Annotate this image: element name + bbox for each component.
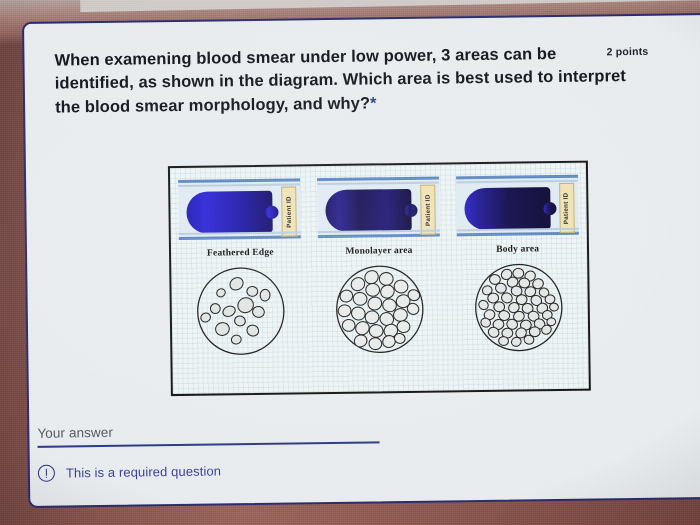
blood-cell [210, 303, 221, 314]
blood-cell [365, 283, 380, 297]
panel-caption-body-area: Body area [496, 244, 539, 255]
microscope-slide: Patient ID [317, 177, 440, 239]
photographed-screen: When examening blood smear under low pow… [0, 0, 700, 525]
blood-cell [214, 321, 231, 337]
blood-cell [342, 320, 355, 332]
blood-smear-body-area [464, 187, 551, 230]
required-question-message: This is a required question [66, 463, 221, 480]
patient-id-label: Patient ID [282, 186, 298, 236]
microscope-field-monolayer-area [330, 263, 429, 356]
answer-zone: Your answer This is a required question [37, 421, 398, 482]
required-asterisk: * [370, 94, 377, 112]
blood-cell [352, 333, 368, 349]
blood-cell [352, 291, 368, 307]
diagram-panel-feathered-edge: Patient ID Feathered Edge [170, 166, 312, 394]
smear-bump [266, 205, 279, 218]
required-question-notice: This is a required question [38, 460, 398, 482]
blood-cell [222, 304, 238, 318]
microscope-slide: Patient ID [178, 178, 301, 240]
blood-cell [337, 304, 352, 318]
blood-cell [378, 283, 396, 301]
patient-id-label: Patient ID [559, 183, 575, 233]
smear-bump [543, 202, 556, 215]
blood-cell [260, 289, 271, 302]
blood-cell [231, 334, 242, 345]
blood-cell [216, 287, 228, 298]
blood-cell [349, 305, 367, 322]
blood-cell [228, 275, 246, 293]
question-text: When examening blood smear under low pow… [54, 42, 635, 120]
patient-id-text: Patient ID [286, 196, 293, 228]
panel-caption-feathered-edge: Feathered Edge [207, 248, 274, 259]
question-card: When examening blood smear under low pow… [22, 13, 700, 508]
points-label: 2 points [607, 46, 649, 59]
blood-cell [200, 312, 212, 324]
patient-id-label: Patient ID [420, 185, 436, 235]
blood-cell [549, 303, 559, 312]
diagram-panel-body-area: Patient ID Body area [447, 163, 589, 391]
blood-cell [396, 320, 410, 333]
blood-cell [393, 308, 408, 322]
blood-smear-feathered-edge [187, 191, 274, 234]
exclamation-circle-icon [38, 465, 55, 482]
microscope-field-feathered-edge [192, 265, 291, 358]
smear-bump [404, 203, 417, 216]
blood-cell [544, 295, 554, 304]
patient-id-text: Patient ID [424, 194, 431, 226]
blood-cell [393, 279, 409, 294]
microscope-field-body-area [469, 261, 568, 354]
blood-cell [247, 286, 258, 296]
diagram-panel-monolayer-area: Patient ID Monolayer area [309, 164, 451, 392]
blood-cell [366, 295, 383, 312]
blood-smear-diagram: Patient ID Feathered Edge [168, 161, 591, 396]
blood-cell [368, 337, 383, 351]
blood-cell [252, 305, 266, 318]
diagram-panels: Patient ID Feathered Edge [170, 163, 589, 394]
microscope-slide: Patient ID [456, 175, 579, 237]
question-text-body: When examening blood smear under low pow… [54, 45, 626, 116]
blood-cell [234, 315, 247, 328]
blood-cell [369, 324, 384, 338]
blood-cell [246, 323, 261, 337]
blood-cell [513, 268, 524, 278]
blood-smear-monolayer [325, 189, 412, 232]
panel-caption-monolayer-area: Monolayer area [345, 246, 412, 257]
blood-cell [379, 272, 393, 285]
patient-id-text: Patient ID [563, 192, 570, 224]
